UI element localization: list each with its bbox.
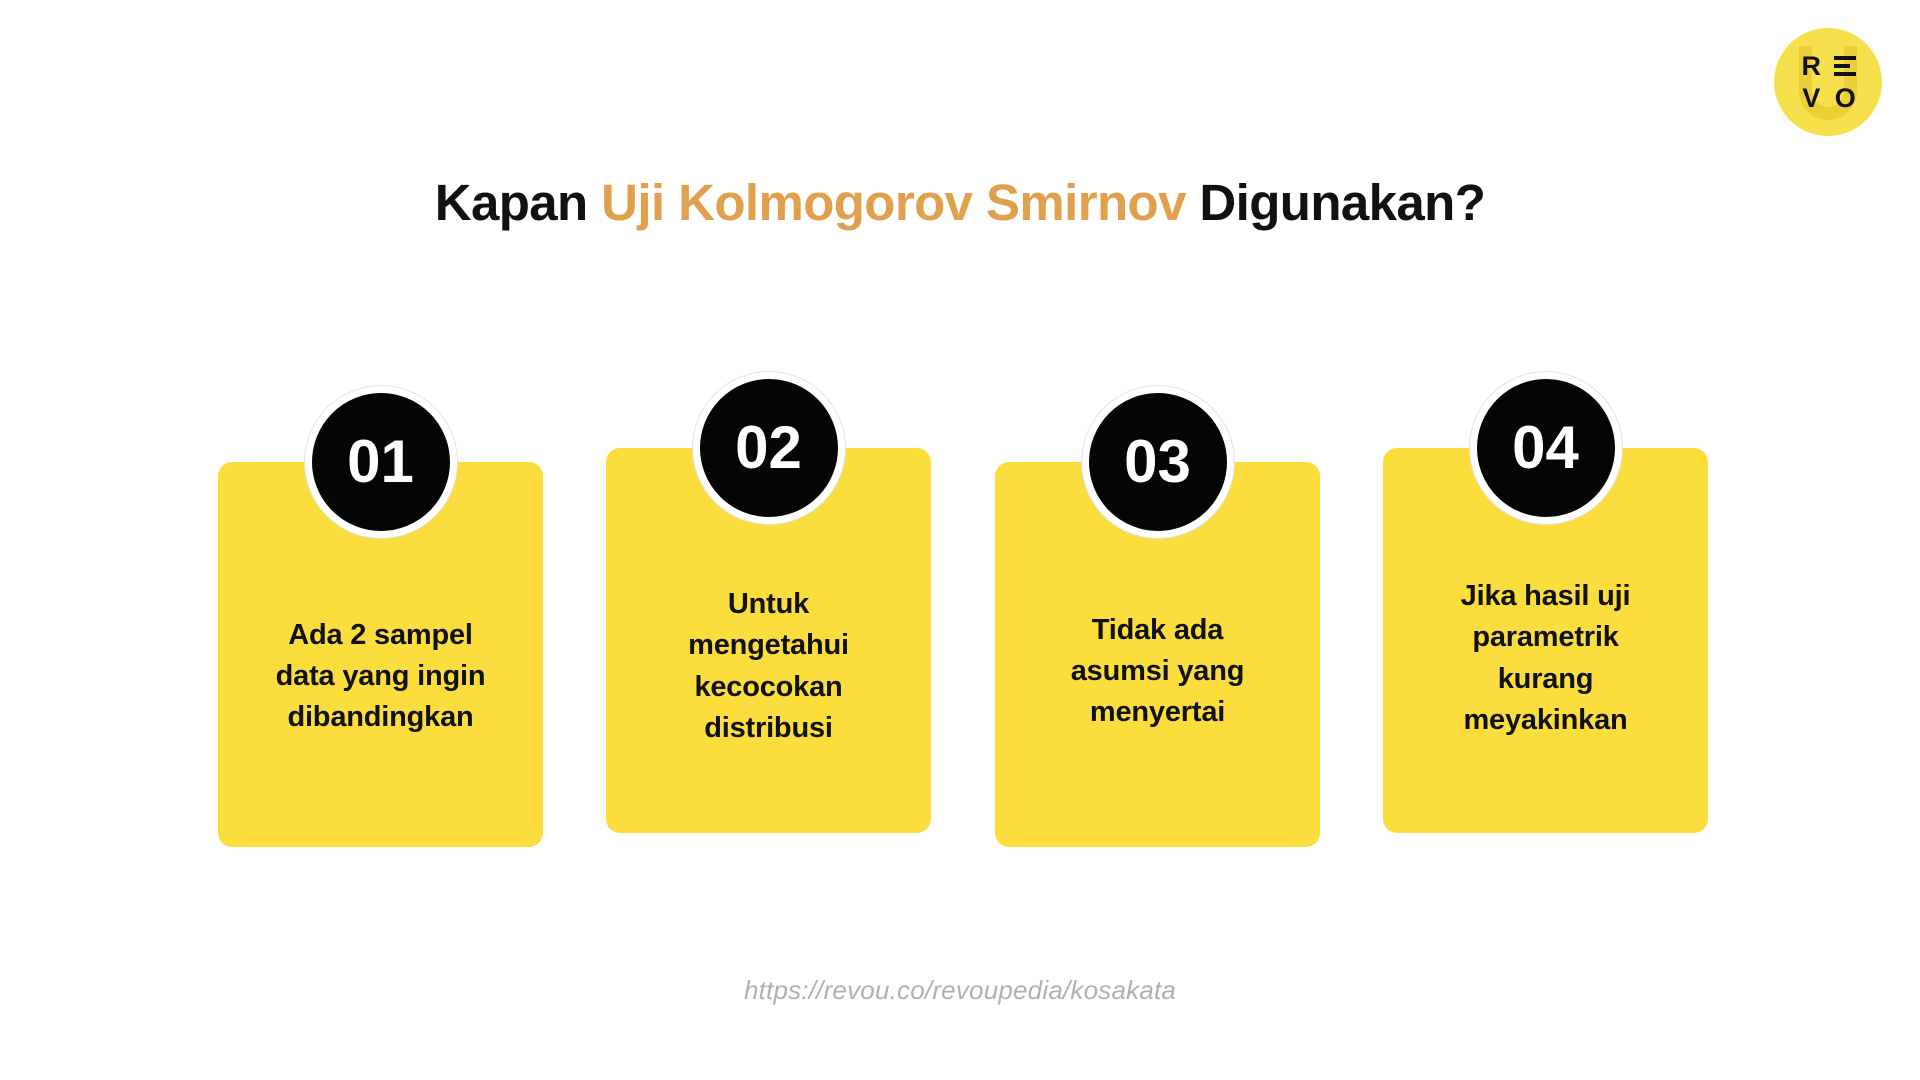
card-text-line: asumsi yang — [1021, 651, 1294, 692]
card-text-line: menyertai — [1021, 692, 1294, 733]
page-title: Kapan Uji Kolmogorov Smirnov Digunakan? — [0, 173, 1920, 232]
card-01[interactable]: 01 Ada 2 sampel data yang ingin dibandin… — [218, 462, 543, 847]
card-wrapper-03: 03 Tidak ada asumsi yang menyertai — [995, 360, 1320, 847]
logo-letter-o: O — [1835, 85, 1856, 112]
card-04[interactable]: 04 Jika hasil uji parametrik kurang meya… — [1383, 448, 1708, 833]
cards-row: 01 Ada 2 sampel data yang ingin dibandin… — [218, 360, 1718, 880]
card-text-line: Jika hasil uji — [1409, 576, 1682, 617]
card-text-03: Tidak ada asumsi yang menyertai — [1021, 610, 1294, 734]
card-text-line: parametrik — [1409, 617, 1682, 658]
card-text-02: Untuk mengetahui kecocokan distribusi — [632, 584, 905, 749]
card-number-02: 02 — [735, 418, 802, 478]
footer-source-url[interactable]: https://revou.co/revoupedia/kosakata — [0, 975, 1920, 1006]
card-text-line: mengetahui — [632, 625, 905, 666]
card-text-04: Jika hasil uji parametrik kurang meyakin… — [1409, 576, 1682, 741]
logo-letters: R V O — [1774, 28, 1882, 136]
card-text-line: kurang — [1409, 659, 1682, 700]
card-number-04: 04 — [1512, 418, 1579, 478]
card-wrapper-04: 04 Jika hasil uji parametrik kurang meya… — [1383, 360, 1708, 833]
logo-letter-e-icon — [1834, 56, 1856, 76]
card-badge-01: 01 — [305, 386, 457, 538]
card-badge-03: 03 — [1082, 386, 1234, 538]
logo-letter-v: V — [1802, 85, 1820, 112]
title-part-1: Kapan — [435, 174, 601, 231]
card-number-01: 01 — [347, 432, 414, 492]
card-number-03: 03 — [1124, 432, 1191, 492]
card-text-line: distribusi — [632, 708, 905, 749]
card-text-line: Tidak ada — [1021, 610, 1294, 651]
card-03[interactable]: 03 Tidak ada asumsi yang menyertai — [995, 462, 1320, 847]
card-text-line: dibandingkan — [244, 697, 517, 738]
card-badge-02: 02 — [693, 372, 845, 524]
card-text-line: Ada 2 sampel — [244, 615, 517, 656]
card-02[interactable]: 02 Untuk mengetahui kecocokan distribusi — [606, 448, 931, 833]
title-part-2: Digunakan? — [1186, 174, 1485, 231]
card-wrapper-01: 01 Ada 2 sampel data yang ingin dibandin… — [218, 360, 543, 847]
card-text-01: Ada 2 sampel data yang ingin dibandingka… — [244, 615, 517, 739]
card-text-line: Untuk — [632, 584, 905, 625]
card-text-line: data yang ingin — [244, 656, 517, 697]
card-text-line: meyakinkan — [1409, 700, 1682, 741]
revou-logo: R V O — [1774, 28, 1882, 136]
card-badge-04: 04 — [1470, 372, 1622, 524]
card-wrapper-02: 02 Untuk mengetahui kecocokan distribusi — [606, 360, 931, 833]
title-accent: Uji Kolmogorov Smirnov — [601, 174, 1186, 231]
logo-letter-r: R — [1802, 53, 1821, 80]
card-text-line: kecocokan — [632, 667, 905, 708]
